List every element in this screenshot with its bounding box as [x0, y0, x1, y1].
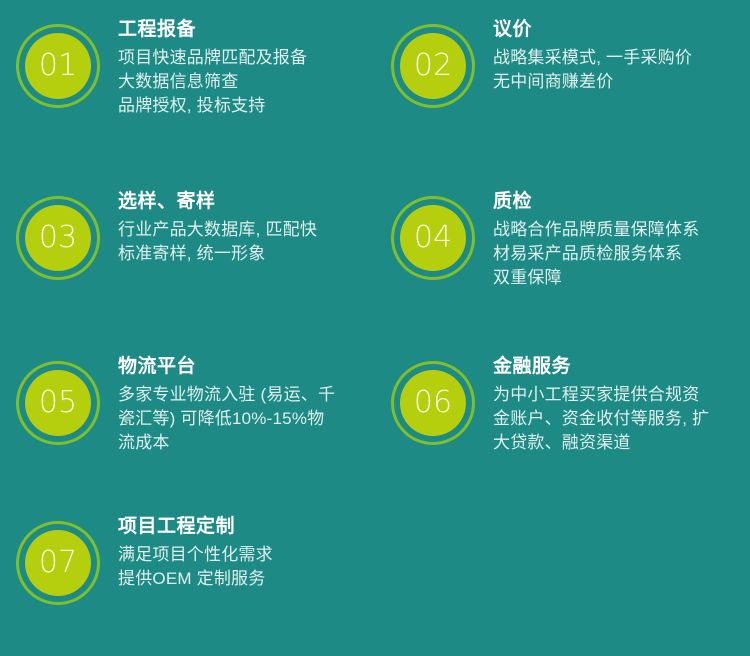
step-badge-06: 06 — [391, 361, 475, 445]
feature-text-01: 工程报备 项目快速品牌匹配及报备 大数据信息筛查 品牌授权, 投标支持 — [118, 14, 375, 118]
badge-number: 01 — [39, 51, 77, 81]
badge-core-circle: 04 — [400, 205, 466, 271]
feature-text-07: 项目工程定制 满足项目个性化需求 提供OEM 定制服务 — [118, 511, 375, 591]
feature-text-03: 选样、寄样 行业产品大数据库, 匹配快 标准寄样, 统一形象 — [118, 186, 375, 266]
badge-number: 02 — [414, 51, 452, 81]
feature-description: 项目快速品牌匹配及报备 大数据信息筛查 品牌授权, 投标支持 — [118, 46, 375, 118]
badge-number: 05 — [39, 388, 77, 418]
feature-title: 工程报备 — [118, 16, 375, 44]
feature-title: 物流平台 — [118, 353, 375, 381]
badge-number: 04 — [414, 223, 452, 253]
feature-line: 多家专业物流入驻 (易运、千 — [118, 383, 375, 407]
service-features-infographic: 01 工程报备 项目快速品牌匹配及报备 大数据信息筛查 品牌授权, 投标支持 0… — [0, 0, 750, 656]
feature-title: 选样、寄样 — [118, 188, 375, 216]
feature-line: 材易采产品质检服务体系 — [493, 242, 750, 266]
step-badge-02: 02 — [391, 24, 475, 108]
feature-line: 金账户、资金收付等服务, 扩 — [493, 407, 750, 431]
badge-core-circle: 03 — [25, 205, 91, 271]
feature-line: 战略集采模式, 一手采购价 — [493, 46, 750, 70]
feature-item-01: 01 工程报备 项目快速品牌匹配及报备 大数据信息筛查 品牌授权, 投标支持 — [0, 0, 375, 172]
badge-core-circle: 02 — [400, 33, 466, 99]
feature-item-04: 04 质检 战略合作品牌质量保障体系 材易采产品质检服务体系 双重保障 — [375, 172, 750, 337]
feature-description: 战略合作品牌质量保障体系 材易采产品质检服务体系 双重保障 — [493, 218, 750, 290]
feature-line: 双重保障 — [493, 266, 750, 290]
feature-line: 品牌授权, 投标支持 — [118, 94, 375, 118]
feature-title: 议价 — [493, 16, 750, 44]
feature-line: 无中间商赚差价 — [493, 70, 750, 94]
step-badge-04: 04 — [391, 196, 475, 280]
feature-description: 满足项目个性化需求 提供OEM 定制服务 — [118, 543, 375, 591]
feature-title: 质检 — [493, 188, 750, 216]
feature-line: 大数据信息筛查 — [118, 70, 375, 94]
badge-number: 06 — [414, 388, 452, 418]
feature-text-04: 质检 战略合作品牌质量保障体系 材易采产品质检服务体系 双重保障 — [493, 186, 750, 290]
feature-line: 流成本 — [118, 431, 375, 455]
feature-text-05: 物流平台 多家专业物流入驻 (易运、千 瓷汇等) 可降低10%-15%物 流成本 — [118, 351, 375, 455]
feature-line: 满足项目个性化需求 — [118, 543, 375, 567]
badge-core-circle: 07 — [25, 530, 91, 596]
feature-item-05: 05 物流平台 多家专业物流入驻 (易运、千 瓷汇等) 可降低10%-15%物 … — [0, 337, 375, 497]
feature-item-07: 07 项目工程定制 满足项目个性化需求 提供OEM 定制服务 — [0, 497, 375, 656]
feature-title: 项目工程定制 — [118, 513, 375, 541]
feature-line: 行业产品大数据库, 匹配快 — [118, 218, 375, 242]
feature-line: 提供OEM 定制服务 — [118, 567, 375, 591]
feature-text-06: 金融服务 为中小工程买家提供合规资 金账户、资金收付等服务, 扩 大贷款、融资渠… — [493, 351, 750, 455]
feature-description: 战略集采模式, 一手采购价 无中间商赚差价 — [493, 46, 750, 94]
feature-line: 战略合作品牌质量保障体系 — [493, 218, 750, 242]
step-badge-01: 01 — [16, 24, 100, 108]
feature-item-02: 02 议价 战略集采模式, 一手采购价 无中间商赚差价 — [375, 0, 750, 172]
feature-item-03: 03 选样、寄样 行业产品大数据库, 匹配快 标准寄样, 统一形象 — [0, 172, 375, 337]
feature-line: 为中小工程买家提供合规资 — [493, 383, 750, 407]
badge-number: 07 — [39, 548, 77, 578]
feature-line: 标准寄样, 统一形象 — [118, 242, 375, 266]
feature-description: 为中小工程买家提供合规资 金账户、资金收付等服务, 扩 大贷款、融资渠道 — [493, 383, 750, 455]
feature-item-06: 06 金融服务 为中小工程买家提供合规资 金账户、资金收付等服务, 扩 大贷款、… — [375, 337, 750, 497]
step-badge-03: 03 — [16, 196, 100, 280]
step-badge-07: 07 — [16, 521, 100, 605]
step-badge-05: 05 — [16, 361, 100, 445]
feature-title: 金融服务 — [493, 353, 750, 381]
feature-line: 瓷汇等) 可降低10%-15%物 — [118, 407, 375, 431]
badge-core-circle: 06 — [400, 370, 466, 436]
feature-text-02: 议价 战略集采模式, 一手采购价 无中间商赚差价 — [493, 14, 750, 94]
feature-line: 项目快速品牌匹配及报备 — [118, 46, 375, 70]
features-grid: 01 工程报备 项目快速品牌匹配及报备 大数据信息筛查 品牌授权, 投标支持 0… — [0, 0, 750, 656]
badge-core-circle: 01 — [25, 33, 91, 99]
feature-description: 多家专业物流入驻 (易运、千 瓷汇等) 可降低10%-15%物 流成本 — [118, 383, 375, 455]
badge-core-circle: 05 — [25, 370, 91, 436]
feature-line: 大贷款、融资渠道 — [493, 431, 750, 455]
badge-number: 03 — [39, 223, 77, 253]
feature-description: 行业产品大数据库, 匹配快 标准寄样, 统一形象 — [118, 218, 375, 266]
